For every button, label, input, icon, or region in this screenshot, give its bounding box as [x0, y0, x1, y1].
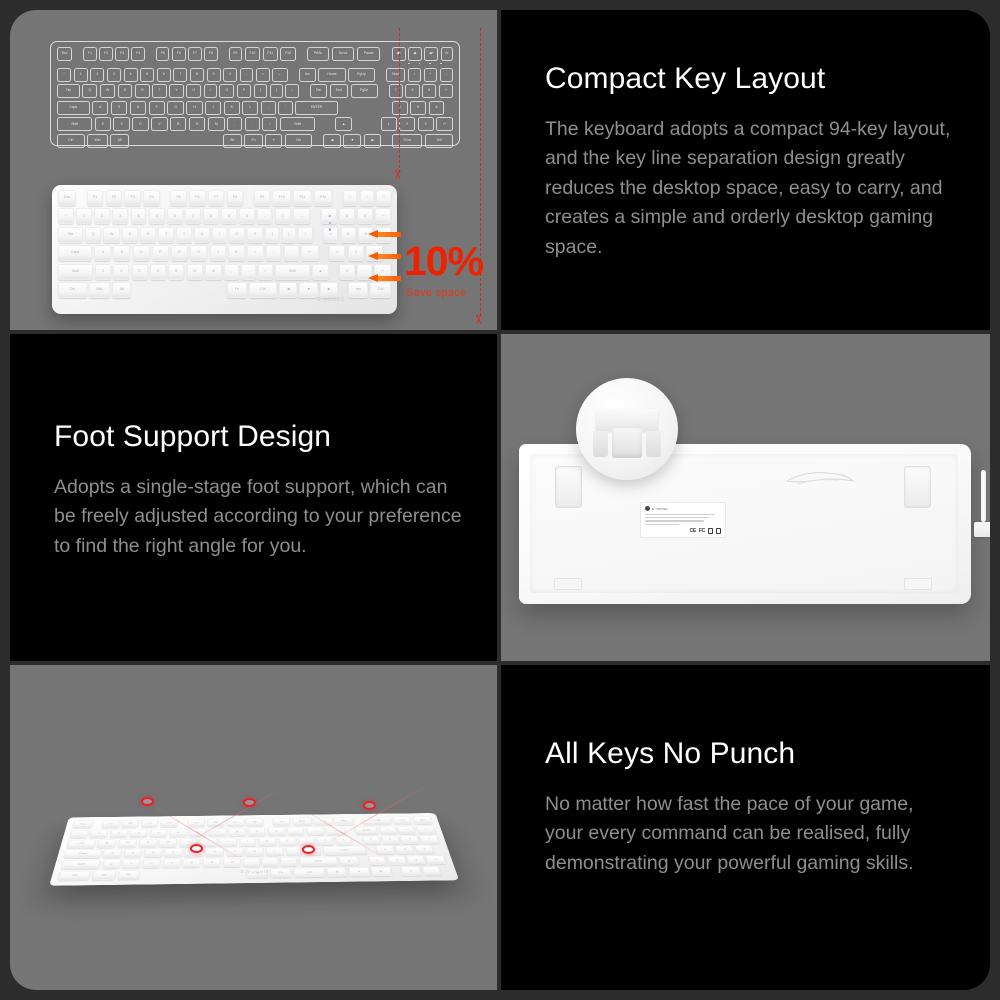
key-gap — [79, 190, 85, 206]
keycap: A — [103, 849, 123, 858]
keycap: 8 — [381, 836, 400, 845]
keycap: 8 — [190, 68, 204, 82]
keycap: F12 — [314, 190, 333, 206]
keycap: ← — [293, 208, 311, 224]
keycap: 5 — [149, 208, 165, 224]
keycap: ↵ — [301, 245, 319, 261]
keycap: Shift — [61, 860, 101, 870]
keycap: ◀+ — [424, 47, 438, 61]
keycap: B — [168, 264, 184, 280]
keycap: Z — [95, 117, 111, 131]
panel-foot-support-text: Foot Support Design Adopts a single-stag… — [10, 334, 497, 661]
compact-keyboard-photo: E-YOOSO EscF1F2F3F4F5F6F7F8F9F10F11F12□□… — [52, 185, 397, 314]
keyboard-row: ShiftZXCVBNM,./Shift▲123↵ — [57, 117, 453, 131]
keycap: Y — [199, 838, 217, 847]
keycap: □ — [376, 190, 391, 206]
keycap: Q — [82, 84, 97, 98]
keycap: [ — [254, 84, 267, 98]
keyboard-row: CapsASDFGHJKL;'ENTER456 — [57, 101, 453, 115]
keycap: . — [245, 117, 260, 131]
keycap: Caps — [64, 849, 102, 858]
keycap: F4 — [143, 190, 160, 206]
keycap: * — [424, 68, 437, 82]
keycap: U — [186, 84, 201, 98]
keycap: F5 — [156, 47, 169, 61]
key-gap — [141, 869, 245, 880]
panel-compact-key-layout-text: Compact Key Layout The keyboard adopts a… — [501, 10, 990, 330]
keycap: / — [262, 117, 277, 131]
keycap: 5 — [169, 829, 187, 837]
keycap: F7 — [188, 47, 201, 61]
keycap: F11 — [293, 190, 311, 206]
keycap: 2 — [348, 245, 365, 261]
keycap: F — [149, 101, 165, 115]
keycap: ' — [278, 101, 293, 115]
keycap: [ — [265, 227, 279, 243]
keycap: S — [111, 101, 127, 115]
keycap: ≡ — [265, 134, 282, 148]
keycap: F12 — [334, 817, 354, 825]
keycap: 4 — [149, 829, 167, 837]
keycap: F11 — [313, 817, 333, 825]
keycap: , — [224, 264, 239, 280]
keycap: X — [122, 859, 141, 868]
keycap: F5 — [170, 190, 187, 206]
key-gap — [380, 84, 386, 98]
keycap: Ctrl — [285, 134, 313, 148]
usb-cable — [974, 470, 990, 537]
label-brand-row: E-YOOSO — [645, 506, 721, 511]
keycap: PrtSc — [363, 817, 393, 825]
arrow-left-icon — [368, 252, 401, 261]
keycap: Esc — [72, 820, 93, 828]
keycap: M — [208, 117, 225, 131]
keycap: 8 — [405, 84, 419, 98]
indicator-leds — [57, 63, 453, 66]
keycap: = — [306, 827, 324, 835]
rubber-pad-right — [904, 578, 932, 590]
keycap: R — [140, 227, 156, 243]
keycap: Fn — [270, 868, 291, 878]
keyboard-row: CapsASDFGHJKL;'↵123 — [58, 245, 391, 261]
body-foot-support-design: Adopts a single-stage foot support, whic… — [54, 473, 463, 562]
key-gap — [132, 134, 221, 148]
keycap: ; — [266, 245, 282, 261]
keycap: 9 — [248, 828, 266, 836]
key-gap — [245, 190, 251, 206]
usb-connector — [974, 522, 990, 537]
angled-keyboard-photo: E-YOOSO EscF1F2F3F4F5F6F7F8F9F10F11F12Pr… — [49, 813, 459, 886]
keycap: R — [135, 84, 150, 98]
key-gap — [301, 84, 307, 98]
keycap: 6 — [429, 101, 445, 115]
keycap: ↵ — [436, 117, 453, 131]
rubber-pad-left — [554, 578, 582, 590]
keycap: F2 — [121, 820, 140, 828]
keycap: / — [280, 857, 297, 866]
key-gap — [335, 190, 341, 206]
keycap: * — [397, 826, 416, 834]
keycap: F10 — [245, 47, 260, 61]
keycap: F — [152, 245, 169, 261]
keycap: C — [132, 264, 148, 280]
keycap: Alt — [110, 134, 129, 148]
label-logo-icon — [645, 506, 650, 511]
keycap: S — [113, 245, 130, 261]
keycap: ] — [270, 84, 283, 98]
keycap: ' — [284, 245, 299, 261]
keycap: 2 — [94, 208, 110, 224]
keycap: ▲ — [335, 117, 352, 131]
keycap: = — [256, 68, 270, 82]
keycap: End — [330, 84, 348, 98]
key-gap — [326, 117, 332, 131]
keycap: ScrLk — [332, 47, 355, 61]
keycap: 0 — [268, 827, 286, 835]
keycap: Caps — [58, 245, 92, 261]
keycap: O — [258, 837, 276, 846]
keycap: 2 — [90, 68, 104, 82]
key-gap — [75, 47, 81, 61]
keycap: C — [142, 859, 161, 868]
key-gap — [375, 101, 381, 115]
keycap: PgDn — [351, 84, 378, 98]
keycap: Esc — [58, 190, 76, 206]
key-gap — [220, 47, 226, 61]
keycap: H — [205, 848, 223, 857]
keycap: - — [440, 68, 453, 82]
key-gap — [298, 47, 304, 61]
keycap: L — [242, 101, 258, 115]
keycap: / — [379, 826, 397, 834]
keycap: Y — [176, 227, 192, 243]
keycap: Alt — [223, 134, 242, 148]
key-gap — [346, 826, 353, 834]
keycap: 9 — [422, 84, 436, 98]
keycap: ◀ — [279, 282, 297, 298]
arrow-left-icon — [368, 230, 401, 239]
panel-size-comparison-image: EscF1F2F3F4F5F6F7F8F9F10F11F12PrtScScrLk… — [10, 10, 497, 330]
keycap: 7 — [185, 208, 201, 224]
keycap: PrtSc — [307, 47, 329, 61]
keycap: − — [375, 208, 391, 224]
keycap: 1 — [381, 117, 397, 131]
keycap: 6 — [157, 68, 171, 82]
key-gap — [290, 68, 296, 82]
keycap: Tab — [58, 227, 83, 243]
keycap: 5 — [140, 68, 154, 82]
keycap: 3 — [129, 829, 148, 837]
keycap: + — [439, 84, 453, 98]
keycap: 0 — [401, 866, 422, 876]
keycap: C — [132, 117, 148, 131]
keycap: ▲ — [339, 856, 359, 865]
keycap: Del — [310, 84, 327, 98]
headline-compact-key-layout: Compact Key Layout — [545, 62, 956, 97]
key-gap — [134, 282, 225, 298]
key-hit-marker — [141, 797, 154, 806]
save-percent-label: 10% — [404, 241, 483, 282]
keycap: 6 — [167, 208, 183, 224]
keycap: F6 — [189, 190, 206, 206]
keycap: ~ — [69, 830, 89, 838]
keycap: . — [422, 866, 442, 876]
keycap: F8 — [246, 818, 263, 826]
keycap: F3 — [124, 190, 141, 206]
key-gap — [383, 101, 389, 115]
foot-stand-zoom-inset — [576, 378, 678, 480]
key-gap — [434, 845, 443, 854]
keycap: Shift — [275, 264, 310, 280]
key-gap — [93, 820, 100, 828]
key-gap — [340, 282, 346, 298]
keycap: W — [118, 839, 138, 848]
keycap: J — [226, 848, 243, 857]
keycap: \ — [298, 227, 312, 243]
save-space-caption: Save space — [406, 287, 466, 299]
keycap: Ctrl — [293, 868, 325, 878]
keycap: ▼ — [343, 134, 361, 148]
keycap: D — [133, 245, 150, 261]
keycap: , — [227, 117, 242, 131]
product-label: E-YOOSO CE FC — [640, 502, 726, 538]
keycap: 5 — [410, 101, 426, 115]
keyboard-row: EscF1F2F3F4F5F6F7F8F9F10F11F12PrtScScrLk… — [57, 47, 453, 61]
label-product-name: E-YOOSO — [652, 507, 668, 511]
keycap: 1 — [74, 68, 88, 82]
keycap: Ins — [393, 816, 413, 824]
keycap: 7 — [209, 828, 227, 836]
keycap: F3 — [141, 819, 159, 827]
keycap: Shift — [58, 264, 93, 280]
keycap: Del — [412, 816, 433, 824]
keycap: ] — [317, 836, 334, 845]
keycap: □ — [360, 190, 375, 206]
key-gap — [364, 117, 370, 131]
keycap: D — [130, 101, 146, 115]
keycap: 6 — [415, 845, 435, 854]
key-gap — [360, 856, 368, 865]
key-gap — [315, 134, 321, 148]
keycap: K — [224, 101, 240, 115]
keycap: L — [266, 847, 284, 856]
keycap: 3 — [418, 117, 434, 131]
keycap: 0 Ins — [392, 134, 422, 148]
keycap: T — [179, 838, 197, 847]
keycap: F8 — [227, 190, 244, 206]
keycap: ↵ — [426, 855, 447, 864]
keycap: F1 — [101, 820, 120, 828]
keycap: M — [223, 858, 241, 867]
keyboard-row: EscF1F2F3F4F5F6F7F8F9F10F11F12□□□ — [58, 190, 391, 206]
keycap: 4 — [376, 846, 395, 855]
keycap: X — [113, 117, 129, 131]
keycap: ~ — [57, 68, 71, 82]
key-gap — [357, 101, 363, 115]
keycap: Ctrl — [57, 134, 85, 148]
keycap: □ — [343, 190, 358, 206]
ce-mark-icon: CE — [690, 528, 696, 534]
keycap: 3 — [107, 68, 121, 82]
foot-support-right — [904, 466, 931, 508]
key-gap — [383, 47, 389, 61]
keycap: I — [212, 227, 226, 243]
keycap: Z — [102, 860, 121, 869]
keycap: ▼ — [299, 282, 318, 298]
keyboard-row: ~1234567890-=←InsHomePgUpNum/*- — [57, 68, 453, 82]
keycap: M — [205, 264, 222, 280]
keycap: B — [170, 117, 186, 131]
key-gap — [331, 264, 337, 280]
key-gap — [377, 68, 383, 82]
key-gap — [366, 101, 372, 115]
certification-marks: CE FC — [645, 528, 721, 534]
keycap: 1 — [368, 856, 387, 865]
keycap: Shift — [280, 117, 315, 131]
keycap: 8 — [229, 828, 246, 836]
keycap: 5 — [395, 845, 415, 854]
keycap: . — [262, 858, 279, 867]
keycap: F6 — [207, 819, 224, 827]
keycap: Q — [97, 839, 117, 848]
keycap: 3 — [407, 856, 427, 865]
keycap: J — [210, 245, 226, 261]
keyboard-row: CtrlWinAltAltFn≡Ctrl◀▼▶0 Ins.Del — [57, 134, 453, 148]
keycap: V — [150, 264, 166, 280]
keycap: F2 — [106, 190, 123, 206]
key-gap — [384, 134, 390, 148]
keycap: F9 — [254, 190, 271, 206]
keycap: [ — [298, 837, 315, 846]
keycap: ← — [272, 68, 288, 82]
keycap: F4 — [131, 47, 144, 61]
keycap: F10 — [292, 818, 312, 826]
keycap: 9 — [207, 68, 221, 82]
keycap: Y — [169, 84, 184, 98]
keycap: - — [287, 827, 304, 835]
body-all-keys-no-punch: No matter how fast the pace of your game… — [545, 790, 956, 879]
keycap: F3 — [115, 47, 128, 61]
keycap: Alt — [117, 870, 139, 880]
keycap: I — [204, 84, 217, 98]
keycap: 7 — [361, 836, 380, 845]
keycap: T — [158, 227, 174, 243]
foot-stand-leg-right — [646, 431, 661, 457]
keycap: − — [416, 825, 436, 833]
keyboard-underside: E-YOOSO CE FC — [519, 444, 971, 604]
keycap: D — [144, 849, 163, 858]
foot-stand-leg-left — [593, 431, 608, 457]
keycap: 7 — [389, 84, 403, 98]
keycap: G — [171, 245, 188, 261]
keycap: I — [240, 837, 256, 846]
keycap: Alt — [112, 282, 131, 298]
keycap: , — [244, 858, 260, 867]
keyboard-row: TabQWERTYUIOP[]\456+ — [58, 227, 391, 243]
keycap: F9 — [273, 818, 291, 826]
panel-all-keys-no-punch-text: All Keys No Punch No matter how fast the… — [501, 665, 990, 990]
keycap: Win — [87, 134, 108, 148]
keyboard-row: CtrlWinAltFnCtrl◀▼▶InsDel — [58, 282, 391, 298]
keycap: W — [100, 84, 115, 98]
keycap: PgUp — [348, 68, 375, 82]
keycap: - — [240, 68, 253, 82]
keycap: Tab — [67, 839, 97, 848]
keycap: Ctrl — [249, 282, 278, 298]
keyboard-row: ~1234567890-=←789− — [58, 208, 391, 224]
keycap: Shift — [57, 117, 92, 131]
keycap: 2 — [109, 829, 128, 837]
keycap: E — [118, 84, 133, 98]
key-gap — [372, 117, 378, 131]
keycap: ; — [261, 101, 276, 115]
keycap: F5 — [188, 819, 206, 827]
keycap: F6 — [172, 47, 185, 61]
keyboard-brand-logo: E-YOOSO — [241, 870, 269, 874]
brand-decal-icon — [784, 468, 856, 489]
key-gap — [315, 227, 321, 243]
keycap: ▶ — [371, 867, 392, 877]
usb-cord — [981, 470, 986, 522]
keycap: ◀ — [323, 134, 340, 148]
keycap: Enter — [323, 846, 367, 855]
keycap: R — [159, 838, 178, 847]
keycap: F1 — [87, 190, 104, 206]
scissors-icon-left: ✂ — [391, 169, 404, 180]
weee-mark-icon — [716, 528, 721, 534]
keycap: Ins — [299, 68, 316, 82]
keycap: V — [162, 859, 180, 868]
keycap: ← — [325, 827, 345, 835]
keycap: ; — [286, 847, 303, 856]
foot-support-left — [555, 466, 582, 508]
cut-line-left — [399, 28, 400, 173]
keycap: N — [203, 858, 221, 867]
keycap: B — [183, 859, 201, 868]
keycap: 0 — [339, 264, 355, 280]
keyboard-brand-logo: E-YOOSO — [317, 297, 345, 303]
keycap: F — [164, 848, 183, 857]
keycap: U — [194, 227, 210, 243]
keycap: Num — [386, 68, 405, 82]
keycap: F7 — [208, 190, 225, 206]
key-gap — [265, 818, 271, 826]
keycap: Fn — [244, 134, 263, 148]
keycap: ▶ — [364, 134, 381, 148]
keycap: Win — [89, 282, 110, 298]
keycap: 3 — [112, 208, 128, 224]
keycap: 7 — [173, 68, 187, 82]
keycap: G — [185, 848, 204, 857]
rohs-mark-icon — [708, 528, 713, 534]
keycap: 9 — [221, 208, 237, 224]
keycap: F11 — [263, 47, 278, 61]
keycap: ' — [304, 847, 321, 856]
key-gap — [355, 117, 361, 131]
key-gap — [180, 819, 186, 827]
keycap: L — [247, 245, 264, 261]
keycap: = — [275, 208, 291, 224]
keycap: 4 — [124, 68, 138, 82]
keycap: A — [92, 101, 108, 115]
keycap: F9 — [229, 47, 242, 61]
keycap: 8 — [203, 208, 219, 224]
keycap: G — [167, 101, 184, 115]
keycap: 1 — [76, 208, 92, 224]
key-gap — [355, 817, 362, 825]
keycap: N — [189, 117, 205, 131]
keycap: Z — [95, 264, 111, 280]
